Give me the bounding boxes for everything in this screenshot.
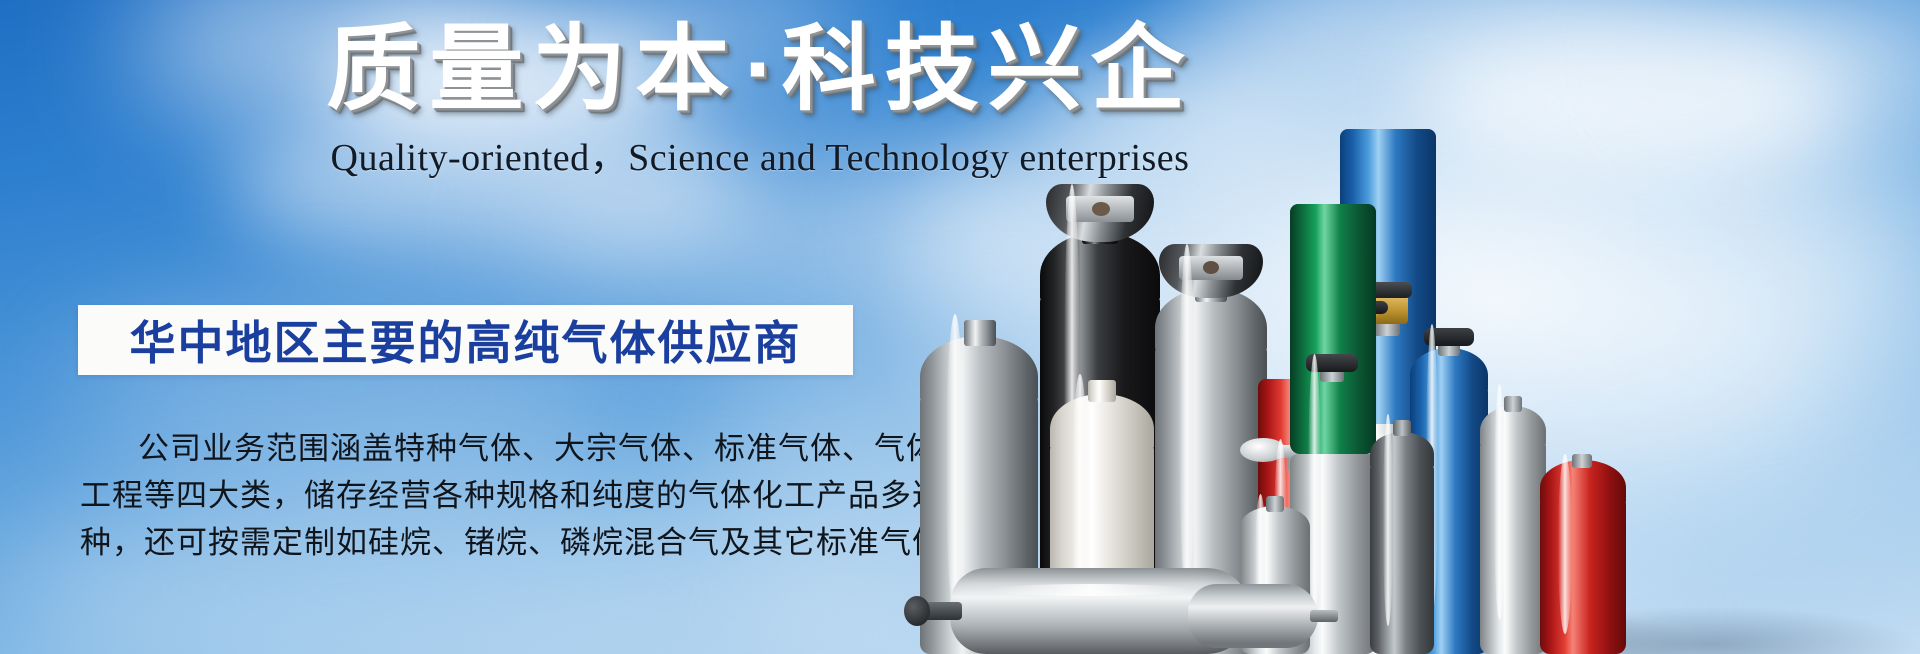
cylinder-neck	[1504, 396, 1522, 412]
cylinder-neck	[1088, 380, 1116, 402]
cylinder-body	[1480, 439, 1546, 654]
tank-nozzle	[1310, 610, 1338, 622]
gas-cylinder-group	[940, 0, 1920, 654]
paragraph-line-3: 种，还可按需定制如硅烷、锗烷、磷烷混合气及其它标准气体。	[80, 519, 870, 566]
cylinder-neck	[964, 320, 996, 346]
headline-separator: ·	[738, 16, 781, 121]
valve-handwheel	[1306, 354, 1358, 372]
headline-part-1: 质量为本	[326, 16, 738, 121]
cylinder-body	[1370, 462, 1434, 654]
cylinder-shoulder	[1370, 432, 1434, 468]
slogan-text: 华中地区主要的高纯气体供应商	[130, 307, 802, 373]
cylinder-shoulder	[1050, 394, 1154, 450]
valve-handwheel	[1424, 328, 1474, 346]
cylinder-darkgrey-slim	[1370, 414, 1434, 654]
tank-valve-cap	[904, 596, 930, 626]
cylinder-aluminium-slim	[1480, 384, 1546, 654]
cylinder-body	[1540, 496, 1626, 654]
slogan-box: 华中地区主要的高纯气体供应商	[78, 305, 853, 375]
paragraph-line-1: 公司业务范围涵盖特种气体、大宗气体、标准气体、气体管道	[80, 425, 870, 472]
cylinder-neck	[1266, 496, 1284, 512]
cylinder-upper-body	[1290, 204, 1376, 454]
cap-valve-dot	[1203, 261, 1219, 274]
cylinder-neck	[1572, 454, 1592, 468]
cylinder-shoulder	[1480, 406, 1546, 446]
cylinder-horizontal-tank-secondary	[1188, 584, 1318, 648]
banner-paragraph: 公司业务范围涵盖特种气体、大宗气体、标准气体、气体管道 工程等四大类，储存经营各…	[80, 425, 870, 566]
cap-valve-dot	[1092, 202, 1110, 216]
cylinder-neck	[1393, 420, 1411, 436]
hero-banner: 质量为本·科技兴企 Quality-oriented，Science and T…	[0, 0, 1920, 654]
paragraph-line-2: 工程等四大类，储存经营各种规格和纯度的气体化工产品多达上百	[80, 472, 870, 519]
tank-highlight	[990, 584, 1190, 596]
cylinder-red-short-right	[1540, 454, 1626, 654]
